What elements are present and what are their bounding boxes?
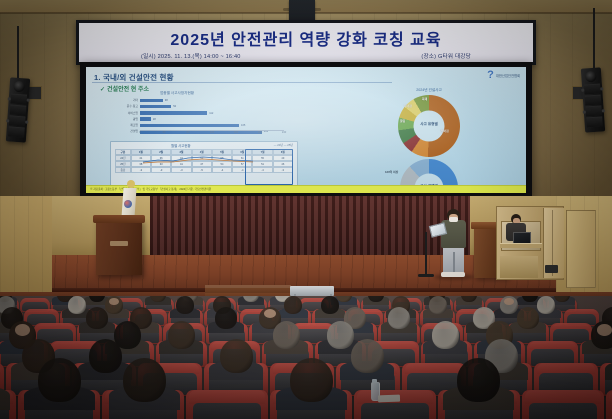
slide-footer-bar: ※ 자료출처 : 고용노동부 「산업재해현황분석」 및 국토교통부 「건설사고 … <box>86 185 526 193</box>
question-mark-icon: ? <box>487 70 494 80</box>
table-cell: -3 <box>171 167 191 173</box>
audience-member <box>327 321 354 349</box>
bar <box>140 124 239 128</box>
audience-member <box>105 296 123 314</box>
front-stage-table <box>290 286 334 296</box>
audience-member-scalp <box>504 298 514 306</box>
flag-finial <box>127 180 135 188</box>
audience-member-scalp <box>109 298 119 306</box>
donut-bottom-slice-label-2: 120억 이상 <box>385 170 398 174</box>
bar-chart-row: 광업18 <box>140 117 284 122</box>
speaker-horn-icon <box>585 71 597 83</box>
microphone-stand <box>425 232 427 276</box>
bar <box>140 111 207 115</box>
bar-chart-tick: 80 <box>187 131 190 134</box>
bar-chart: 업종별 사고사망자현황 기타38운수·창고52서비스업112광업18제조업165… <box>114 93 290 137</box>
table-cell: -4 <box>252 167 272 173</box>
bar-chart-tick: 0 <box>139 131 140 134</box>
bar-category-label: 기타 <box>115 98 138 103</box>
bar-category-label: 광업 <box>115 117 138 122</box>
presenter-leg-split <box>453 252 455 274</box>
booth-equipment-box <box>545 265 558 273</box>
slide-bullet: ✓건설안전 현 주소 <box>100 84 149 93</box>
slide-footer-note: ※ 자료출처 : 고용노동부 「산업재해현황분석」 및 국토교통부 「건설사고 … <box>90 187 211 191</box>
donut-top-title: 2024년 건설사고 <box>398 88 460 93</box>
banner-location: (장소) G타워 대강당 <box>421 52 471 60</box>
left-speaker-cable <box>17 26 19 78</box>
microphone-base <box>418 274 434 277</box>
table-row-label: 증감 <box>115 167 131 173</box>
audience-member <box>68 296 86 314</box>
seat-row: 10 <box>0 390 612 419</box>
bar-category-label: 운수·창고 <box>115 104 138 109</box>
banner-title: 2025년 안전관리 역량 강화 코칭 교육 <box>79 26 533 50</box>
table-row: 증감-3-3-3-5-4-4-4-3 <box>115 167 293 173</box>
auditorium-seat[interactable] <box>606 390 612 419</box>
audience-seating: M10 <box>0 296 612 419</box>
audience-member <box>500 296 518 314</box>
table-cell: -5 <box>192 167 212 173</box>
wooden-lectern <box>96 219 142 275</box>
audience-member <box>457 358 500 402</box>
right-speaker-cable <box>593 8 595 68</box>
bar-chart-tick: 200 <box>258 131 262 134</box>
event-banner: 2025년 안전관리 역량 강화 코칭 교육 (일시) 2025. 11. 13… <box>76 20 536 65</box>
booth-lower-panel <box>500 256 538 278</box>
donut-top-center-label: 사고 유형별 <box>398 122 460 127</box>
seat-crest <box>0 363 1 374</box>
audience-member <box>429 296 447 314</box>
bar-value-label: 18 <box>153 117 156 122</box>
bar-chart-tick: 120 <box>210 131 214 134</box>
audience-member <box>284 296 302 314</box>
donut-top-slice-label-0: 떨어짐 <box>441 129 449 133</box>
check-icon: ✓ <box>100 87 105 93</box>
bar-chart-row: 제조업165 <box>140 123 284 128</box>
table-cell: -3 <box>131 167 151 173</box>
slide-logo: ? 대한산업안전협회 <box>487 70 520 80</box>
audience-member-scalp <box>264 309 276 318</box>
bar-chart-ticks: 04080120160200240 <box>140 131 284 137</box>
lectern-top <box>93 215 145 223</box>
bar-category-label: 제조업 <box>115 123 138 128</box>
audience-member <box>123 358 166 402</box>
audience-member <box>290 358 333 402</box>
banner-datetime: (일시) 2025. 11. 13.(목) 14:00 ~ 16:40 <box>141 52 241 60</box>
audience-member <box>351 339 384 373</box>
bar-chart-tick: 40 <box>163 131 166 134</box>
auditorium-photo: 2025년 안전관리 역량 강화 코칭 교육 (일시) 2025. 11. 13… <box>0 0 612 419</box>
audience-member <box>86 307 108 329</box>
bar-chart-rows: 기타38운수·창고52서비스업112광업18제조업165건설업203 <box>140 98 284 130</box>
stage-curtain-center <box>150 196 470 262</box>
audience-member <box>215 307 237 329</box>
donut-top-slice-label-4: 깔림 <box>400 119 405 123</box>
audience-member <box>168 321 195 349</box>
audience-member <box>38 358 81 402</box>
table-cell: -3 <box>273 167 293 173</box>
bar <box>140 105 171 109</box>
side-door-right <box>566 210 596 288</box>
bar-value-label: 165 <box>241 123 245 128</box>
table-cell: -4 <box>212 167 232 173</box>
flag-emblem-icon <box>124 200 132 208</box>
audience-member-scalp <box>15 324 30 336</box>
audience-member <box>321 296 339 314</box>
bar-chart-tick: 240 <box>282 131 286 134</box>
bar-chart-row: 운수·창고52 <box>140 104 284 109</box>
table-cell: -4 <box>232 167 252 173</box>
donut-top-slice-label-5: 무너짐 <box>404 104 412 108</box>
presenter-face-mask <box>449 217 458 222</box>
seat-back-pad <box>193 403 262 419</box>
audience-member <box>89 339 122 373</box>
slide-logo-org: 대한산업안전협회 <box>496 73 520 78</box>
seat-back-pad <box>361 403 430 419</box>
bar-chart-row: 기타38 <box>140 98 284 103</box>
audience-member <box>432 321 459 349</box>
auditorium-wall-left <box>0 196 52 292</box>
monthly-table: 월별 사고현황 — 24년 — 25년 구분1월2월3월4월5월6월7월8월24… <box>110 141 298 189</box>
audience-member <box>591 321 612 349</box>
audience-member <box>517 307 539 329</box>
booth-desk <box>500 243 542 248</box>
handout-papers[interactable] <box>378 395 400 403</box>
bar-value-label: 112 <box>209 111 213 116</box>
slide-title-rule <box>92 82 392 83</box>
audience-member-scalp <box>597 324 612 336</box>
auditorium-seat[interactable] <box>522 390 604 419</box>
bar-chart-tick: 160 <box>234 131 238 134</box>
audience-member <box>220 339 253 373</box>
audience-member <box>388 307 410 329</box>
banner-surface: 2025년 안전관리 역량 강화 코칭 교육 (일시) 2025. 11. 13… <box>79 23 533 62</box>
table-legend: — 24년 — 25년 <box>274 143 293 147</box>
donut-top-slice-label-6: 화재 <box>422 97 427 101</box>
table-title: 월별 사고현황 <box>171 143 191 148</box>
bottle-cap <box>372 379 377 383</box>
table-grid: 구분1월2월3월4월5월6월7월8월24년413644525861554925년… <box>115 149 293 185</box>
lectern-nameplate <box>110 241 128 246</box>
bar-value-label: 38 <box>165 98 168 103</box>
bar-chart-row: 서비스업112 <box>140 111 284 116</box>
speaker-horn-icon <box>13 81 25 93</box>
bar-value-label: 52 <box>173 104 176 109</box>
bar <box>140 117 151 121</box>
presenter-shoes <box>441 272 465 277</box>
bar-chart-title: 업종별 사고사망자현황 <box>160 91 194 96</box>
audience-member <box>273 321 300 349</box>
bar-category-label: 건설업 <box>115 129 138 134</box>
bar-category-label: 서비스업 <box>115 111 138 116</box>
audience-member <box>176 296 194 314</box>
seat-back-pad <box>529 403 598 419</box>
table-cell: -3 <box>151 167 171 173</box>
audience-member <box>537 296 555 314</box>
projection-screen: 1. 국내/외 건설안전 현황 ✓건설안전 현 주소 ? 대한산업안전협회 업종… <box>80 62 532 198</box>
bar <box>140 99 163 103</box>
auditorium-seat[interactable] <box>186 390 268 419</box>
slide-surface: 1. 국내/외 건설안전 현황 ✓건설안전 현 주소 ? 대한산업안전협회 업종… <box>86 67 526 193</box>
